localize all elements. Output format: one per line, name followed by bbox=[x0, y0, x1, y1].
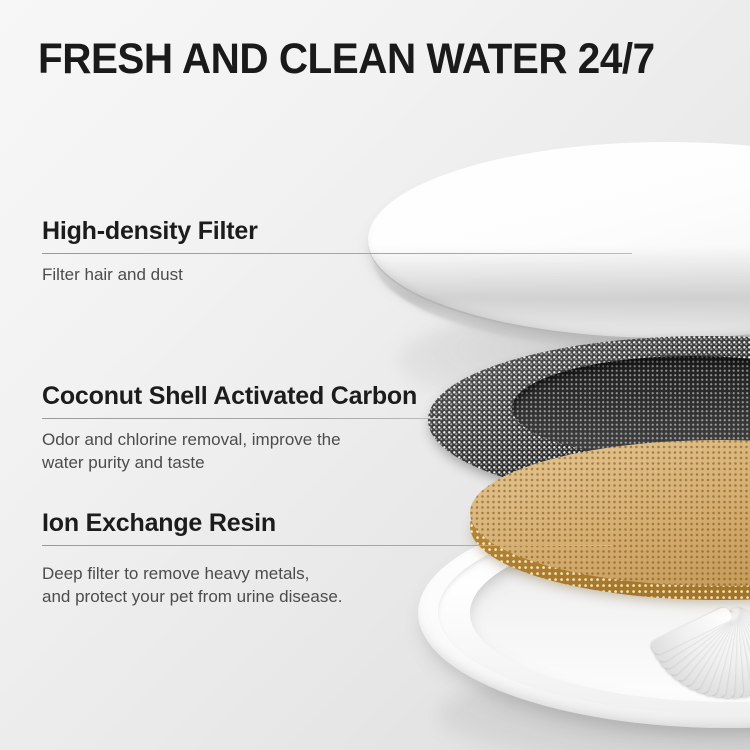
callout-title: Coconut Shell Activated Carbon bbox=[42, 381, 442, 411]
basin-vane bbox=[670, 607, 736, 683]
callout-high-density-filter: High-density Filter Filter hair and dust bbox=[42, 216, 632, 286]
basin-vane bbox=[727, 605, 750, 654]
filter-pad-shadow bbox=[398, 300, 750, 420]
activated-carbon-mesh bbox=[428, 336, 750, 504]
basin-vane bbox=[663, 607, 735, 678]
basin-vane bbox=[677, 608, 737, 688]
basin-vane bbox=[701, 610, 737, 697]
basin-shadow bbox=[438, 660, 750, 750]
basin-vane bbox=[723, 611, 744, 698]
basin-vane bbox=[692, 609, 737, 695]
basin-vane bbox=[658, 606, 735, 671]
activated-carbon-mesh-inner bbox=[512, 356, 750, 460]
page-title: FRESH AND CLEAN WATER 24/7 bbox=[38, 36, 655, 82]
basin-vane bbox=[726, 606, 750, 669]
basin-vane bbox=[725, 606, 750, 675]
callout-title: High-density Filter bbox=[42, 216, 632, 246]
basin-vane bbox=[723, 608, 750, 691]
basin-vane bbox=[724, 607, 750, 682]
basin-vane bbox=[649, 605, 733, 656]
callout-ion-exchange-resin: Ion Exchange Resin Deep filter to remove… bbox=[42, 508, 612, 608]
callout-description: Filter hair and dust bbox=[42, 263, 632, 286]
basin-vane bbox=[684, 609, 736, 692]
basin-vane bbox=[724, 608, 750, 687]
callout-description: Odor and chlorine removal, improve the w… bbox=[42, 428, 442, 474]
callout-leader-line bbox=[42, 253, 632, 254]
callout-leader-line bbox=[42, 545, 612, 546]
basin-vane bbox=[723, 610, 750, 697]
callout-title: Ion Exchange Resin bbox=[42, 508, 612, 538]
product-exploded-view bbox=[0, 0, 750, 750]
callout-activated-carbon: Coconut Shell Activated Carbon Odor and … bbox=[42, 381, 442, 474]
callout-leader-line bbox=[42, 418, 442, 419]
basin-vane bbox=[723, 611, 750, 698]
basin-vane bbox=[726, 606, 750, 662]
basin-vane bbox=[719, 612, 737, 699]
basin-vane bbox=[710, 611, 737, 698]
product-feature-infographic: FRESH AND CLEAN WATER 24/7 High-density … bbox=[0, 0, 750, 750]
basin-vane bbox=[723, 609, 750, 694]
basin-vane bbox=[653, 606, 734, 664]
callout-description: Deep filter to remove heavy metals, and … bbox=[42, 562, 612, 608]
